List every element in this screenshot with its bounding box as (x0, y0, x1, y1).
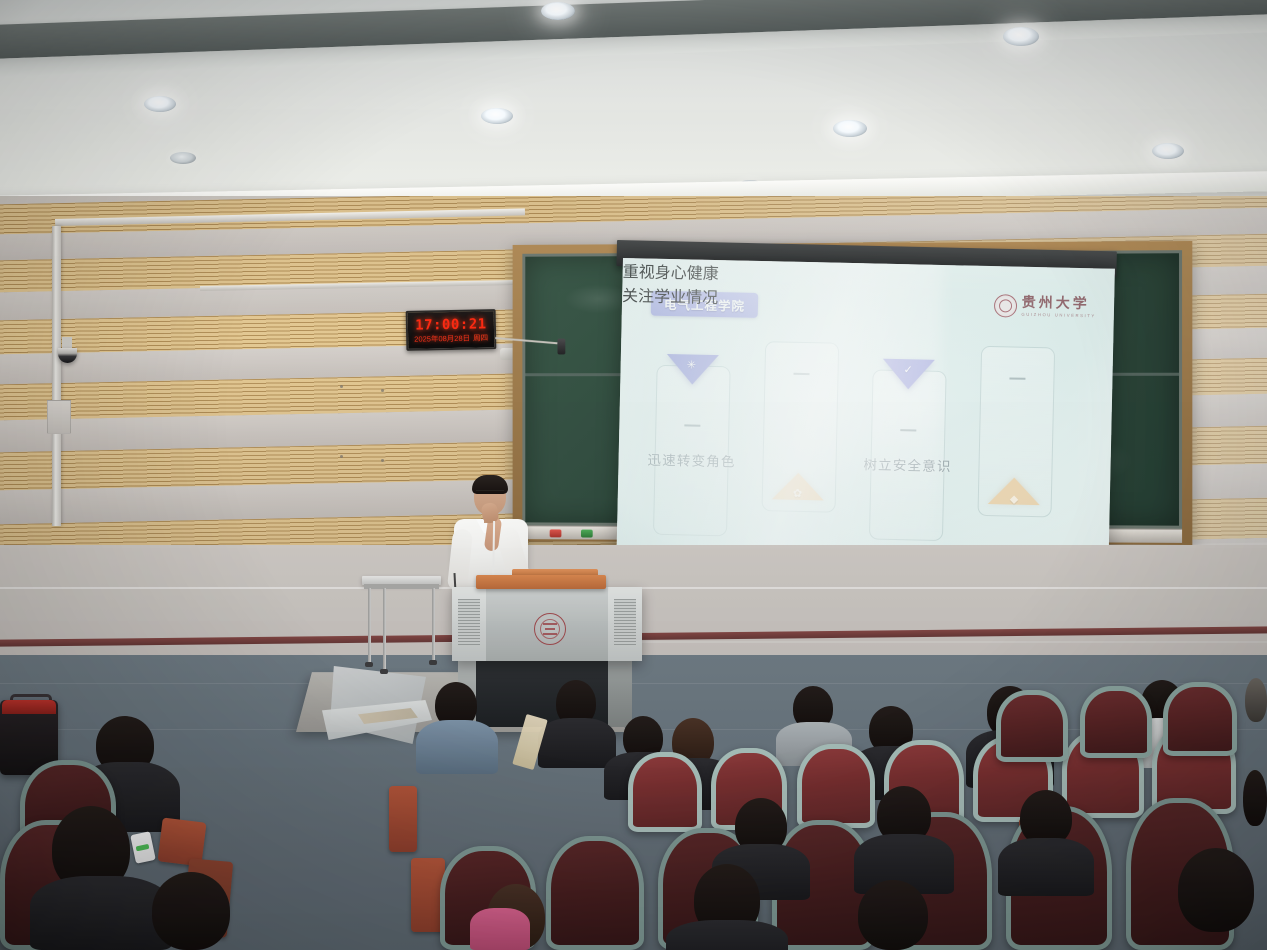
lectern-desktop (476, 575, 606, 589)
audience-head (858, 880, 928, 950)
luggage-top-trim (2, 700, 56, 714)
clock-weekday: 周四 (473, 333, 488, 342)
audience-shoulders (416, 720, 498, 774)
auditorium-seat[interactable] (628, 752, 702, 832)
health-icon-glyph: ✿ (793, 489, 802, 500)
ceiling-downlight (833, 120, 867, 137)
lectern-base-right (608, 661, 632, 727)
card-dash (684, 424, 700, 426)
shield-check-icon-glyph: ✓ (903, 365, 912, 376)
audience-shoulders (30, 876, 172, 950)
auditorium-seat[interactable] (996, 690, 1068, 762)
table-leg (368, 588, 371, 664)
audience-shoulders (666, 920, 788, 950)
lectern-speaker-grill-right (614, 599, 636, 645)
wall-conduit-vertical (52, 226, 61, 526)
table-foot (380, 669, 388, 674)
ceiling-downlight (1152, 143, 1184, 159)
glasses-icon (476, 490, 504, 497)
chat-bubble (136, 844, 150, 852)
ceiling-downlight (144, 96, 176, 112)
wall-screw (381, 389, 384, 392)
audience-head (152, 872, 230, 950)
chalk-eraser-green (581, 530, 593, 538)
table-foot (365, 662, 373, 667)
projection-screen: 电气工程学院 贵州大学 GUIZHOU UNIVERSITY 迅速转变角色 ✳ … (616, 258, 1115, 593)
auditorium-seat[interactable] (1163, 682, 1237, 756)
wall-screw (381, 459, 384, 462)
card-dash (900, 429, 916, 431)
clock-time: 17:00:21 (415, 317, 487, 332)
chalkboard-lock-icon (557, 339, 565, 355)
side-table-apron (364, 584, 439, 589)
auditorium-seat[interactable] (546, 836, 644, 950)
lectern (452, 575, 642, 730)
audience-shoulders (538, 718, 616, 768)
ceiling-downlight (541, 2, 575, 20)
slide-card: 迅速转变角色 (653, 365, 731, 537)
ceiling-downlight (481, 108, 513, 124)
chalk-eraser-red (550, 529, 562, 537)
table-foot (429, 660, 437, 665)
slide-card-title: 迅速转变角色 (647, 449, 736, 471)
seat-armrest (389, 786, 417, 852)
wall-screw (340, 455, 343, 458)
lectern-base (472, 661, 622, 727)
audience-head (1243, 770, 1267, 826)
table-leg (432, 588, 435, 662)
auditorium-seat[interactable] (1080, 686, 1152, 758)
card-dash (794, 373, 810, 375)
wall-screw (340, 385, 343, 388)
lecture-hall-photo: 17:00:21 2025年08月28日周四 电气工程学院 贵州大学 GUIZH… (0, 0, 1267, 950)
snowflake-icon-glyph: ✳ (687, 360, 696, 371)
audience-shoulders (998, 838, 1094, 896)
university-seal-icon (534, 613, 566, 645)
audience-head (1245, 678, 1267, 722)
auditorium-seat[interactable] (797, 744, 875, 828)
clock-date: 2025年08月28日周四 (414, 334, 488, 343)
audience-shoulders (470, 908, 530, 950)
lectern-speaker-grill-left (458, 599, 480, 645)
slide-card-title: 树立安全意识 (863, 453, 952, 475)
led-wall-clock: 17:00:21 2025年08月28日周四 (406, 309, 497, 351)
table-leg (383, 588, 386, 670)
ceiling-downlight (1003, 27, 1039, 46)
card-dash (1009, 377, 1025, 379)
clock-date-text: 2025年08月28日 (414, 333, 470, 343)
slide-card: 树立安全意识 (869, 369, 947, 541)
book-icon-glyph: ◆ (1010, 494, 1019, 505)
audience-head (1178, 848, 1254, 932)
wall-plate (47, 400, 71, 434)
ceiling-downlight (170, 152, 196, 164)
slide-card-group: 迅速转变角色 ✳ 重视身心健康 ✿ 树立安全意识 ✓ 关注学业情况 (616, 258, 1115, 593)
